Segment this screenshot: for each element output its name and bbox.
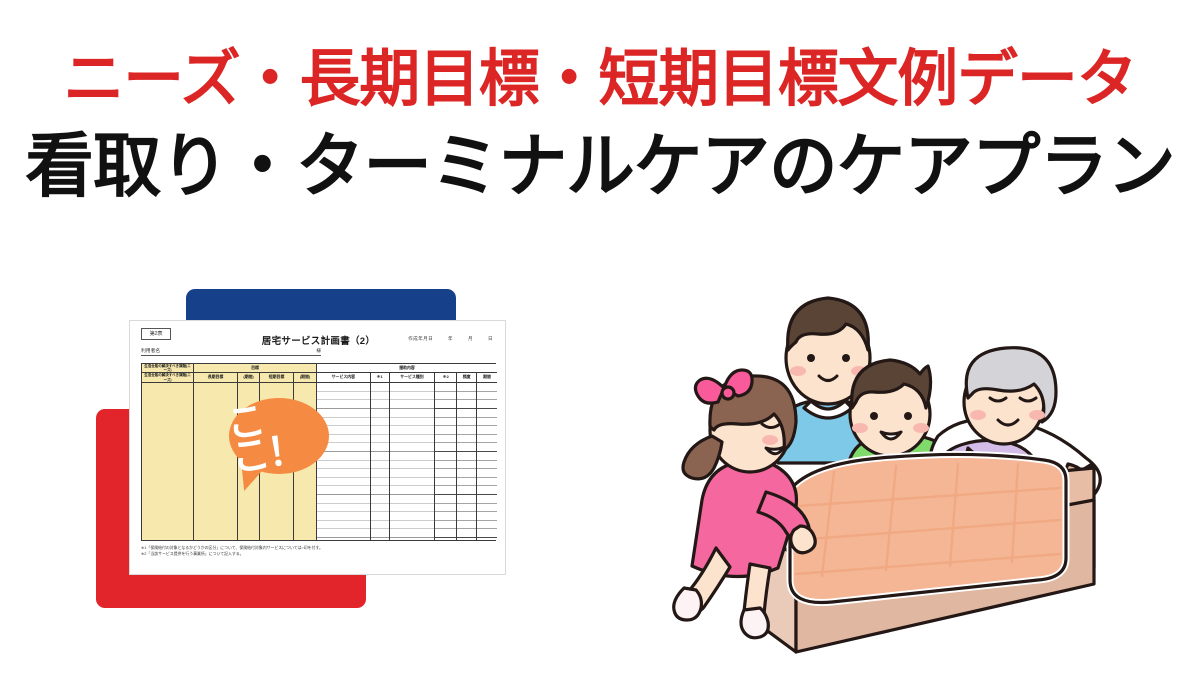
column-period-cells (477, 383, 497, 540)
header-note-1: ※1 (371, 373, 390, 382)
user-name-suffix: 様 (316, 347, 321, 354)
column-note-1-cells (371, 383, 390, 540)
headline-secondary: 看取り・ターミナルケアのケアプラン (12, 124, 1188, 208)
header-frequency: 頻度 (457, 373, 477, 382)
header-short-term-period: (期間) (294, 373, 316, 382)
care-plan-document-graphic: 第2表 居宅サービス計画書（2） 作成年月日 年 月 日 利用者名 様 生活全般… (88, 278, 568, 630)
speech-bubble-text: ここ！ (225, 395, 333, 476)
header-needs: 生活全般の解決すべき課題(ニーズ) (142, 373, 194, 382)
table-column-header-row-left: 生活全般の解決すべき課題(ニーズ) 長期目標 (期間) 短期目標 (期間) (142, 373, 316, 383)
table-body-right (317, 383, 497, 540)
header-service-type: サービス種別 (390, 373, 436, 382)
column-frequency-cells (457, 383, 477, 540)
header-long-term-period: (期間) (238, 373, 260, 382)
table-support-section: 援助内容 サービス内容 ※1 サービス種別 ※2 頻度 期間 (316, 364, 497, 540)
header-long-term-goal: 長期目標 (194, 373, 238, 382)
table-column-header-row-right: サービス内容 ※1 サービス種別 ※2 頻度 期間 (317, 373, 497, 383)
header-needs-group: 生活全般の解決すべき課題(ニーズ) (142, 364, 194, 372)
user-name-field: 利用者名 様 (141, 347, 321, 356)
header-note-2: ※2 (435, 373, 457, 382)
column-note-2-cells (435, 383, 457, 540)
headline-primary: ニーズ・長期目標・短期目標文例データ (12, 42, 1188, 116)
header-period: 期間 (477, 373, 497, 382)
footnote-2: ※2「当該サービス提供を行う事業所」について記入する。 (141, 551, 491, 557)
document-footnotes: ※1「保険給付の対象となるかどうかの区分」について、保険給付対象内サービスについ… (141, 545, 491, 557)
document-header: 第2表 居宅サービス計画書（2） 作成年月日 年 月 日 利用者名 様 (130, 321, 505, 361)
column-service-type-cells (390, 383, 436, 540)
header-support-group: 援助内容 (317, 364, 497, 372)
column-needs-cells (142, 383, 194, 540)
table-group-header-row: 生活全般の解決すべき課題(ニーズ) 目標 (142, 364, 316, 373)
bed-blanket (790, 454, 1066, 602)
user-name-label: 利用者名 (141, 347, 160, 354)
family-illustration (638, 258, 1198, 658)
headline-block: ニーズ・長期目標・短期目標文例データ 看取り・ターミナルケアのケアプラン (0, 42, 1200, 208)
header-service-content: サービス内容 (317, 373, 371, 382)
header-goals-group: 目標 (194, 364, 316, 372)
speech-bubble: ここ！ (229, 398, 329, 474)
poster-canvas: ニーズ・長期目標・短期目標文例データ 看取り・ターミナルケアのケアプラン 第2表… (0, 0, 1200, 675)
created-date-label: 作成年月日 年 月 日 (408, 336, 493, 342)
family-visiting-elderly-svg (638, 258, 1198, 658)
header-short-term-goal: 短期目標 (260, 373, 294, 382)
table-group-header-row-right: 援助内容 (317, 364, 497, 373)
